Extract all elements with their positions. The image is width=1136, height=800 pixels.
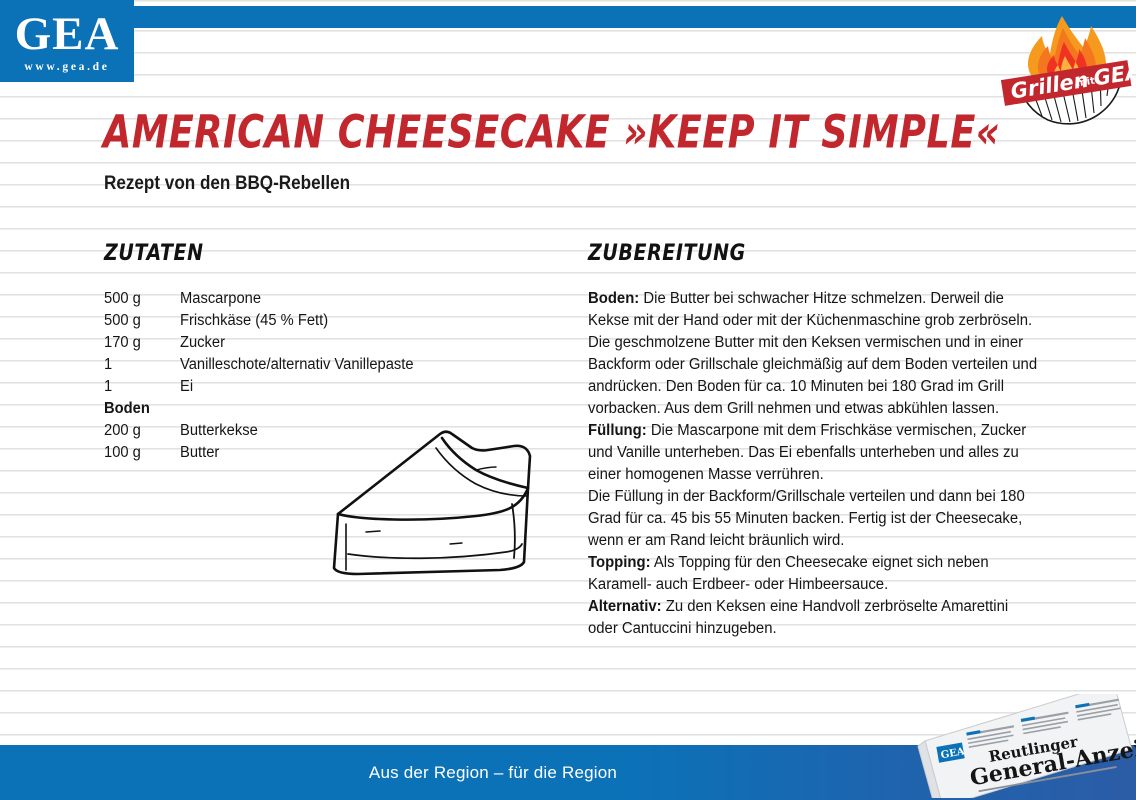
ingredient-amount: 170 g [104, 332, 180, 354]
preparation-step-label: Alternativ: [588, 598, 662, 615]
ingredient-amount: 200 g [104, 420, 180, 442]
ingredient-group-row: Boden [104, 398, 551, 420]
gea-logo[interactable]: GEA www.gea.de [0, 0, 134, 82]
ingredient-name: Mascarpone [180, 288, 261, 310]
ingredient-name: Vanilleschote/alternativ Vanillepaste [180, 354, 414, 376]
ingredient-row: 1Vanilleschote/alternativ Vanillepaste [104, 354, 551, 376]
preparation-paragraph: Füllung: Die Mascarpone mit dem Frischkä… [588, 420, 1039, 486]
ingredient-name: Zucker [180, 332, 225, 354]
top-blue-bar [134, 6, 1136, 28]
ingredient-amount: Boden [104, 398, 180, 420]
ingredient-name: Butterkekse [180, 420, 258, 442]
ingredient-amount: 500 g [104, 288, 180, 310]
preparation-heading: ZUBEREITUNG [588, 240, 746, 266]
ingredient-amount: 1 [104, 354, 180, 376]
preparation-steps: Boden: Die Butter bei schwacher Hitze sc… [588, 288, 1058, 640]
ingredient-row: 100 gButter [104, 442, 551, 464]
preparation-step-label: Boden: [588, 290, 639, 307]
ingredient-name: Butter [180, 442, 219, 464]
ingredient-name: Frischkäse (45 % Fett) [180, 310, 328, 332]
recipe-card-page: GEA www.gea.de [0, 0, 1136, 800]
preparation-paragraph: Topping: Als Topping für den Cheesecake … [588, 552, 1039, 596]
ingredients-list: 500 gMascarpone500 gFrischkäse (45 % Fet… [104, 288, 574, 464]
ingredient-amount: 1 [104, 376, 180, 398]
footer-slogan: Aus der Region – für die Region [0, 745, 1136, 800]
ingredient-amount: 100 g [104, 442, 180, 464]
ingredient-row: 200 gButterkekse [104, 420, 551, 442]
ingredient-row: 170 gZucker [104, 332, 551, 354]
preparation-step-label: Topping: [588, 554, 651, 571]
recipe-subtitle: Rezept von den BBQ-Rebellen [104, 172, 350, 196]
ingredient-row: 500 gMascarpone [104, 288, 551, 310]
ingredient-row: 500 gFrischkäse (45 % Fett) [104, 310, 551, 332]
gea-logo-wordmark: GEA [15, 11, 120, 57]
preparation-step-label: Füllung: [588, 422, 647, 439]
ingredient-row: 1Ei [104, 376, 551, 398]
recipe-title: AMERICAN CHEESECAKE »KEEP IT SIMPLE« [103, 107, 1053, 161]
ingredient-amount: 500 g [104, 310, 180, 332]
preparation-paragraph: Die Füllung in der Backform/Grillschale … [588, 486, 1039, 552]
preparation-paragraph: Boden: Die Butter bei schwacher Hitze sc… [588, 288, 1039, 420]
ingredients-heading: ZUTATEN [104, 240, 204, 266]
preparation-paragraph: Alternativ: Zu den Keksen eine Handvoll … [588, 596, 1039, 640]
gea-logo-url: www.gea.de [24, 61, 109, 73]
ingredient-name: Ei [180, 376, 193, 398]
